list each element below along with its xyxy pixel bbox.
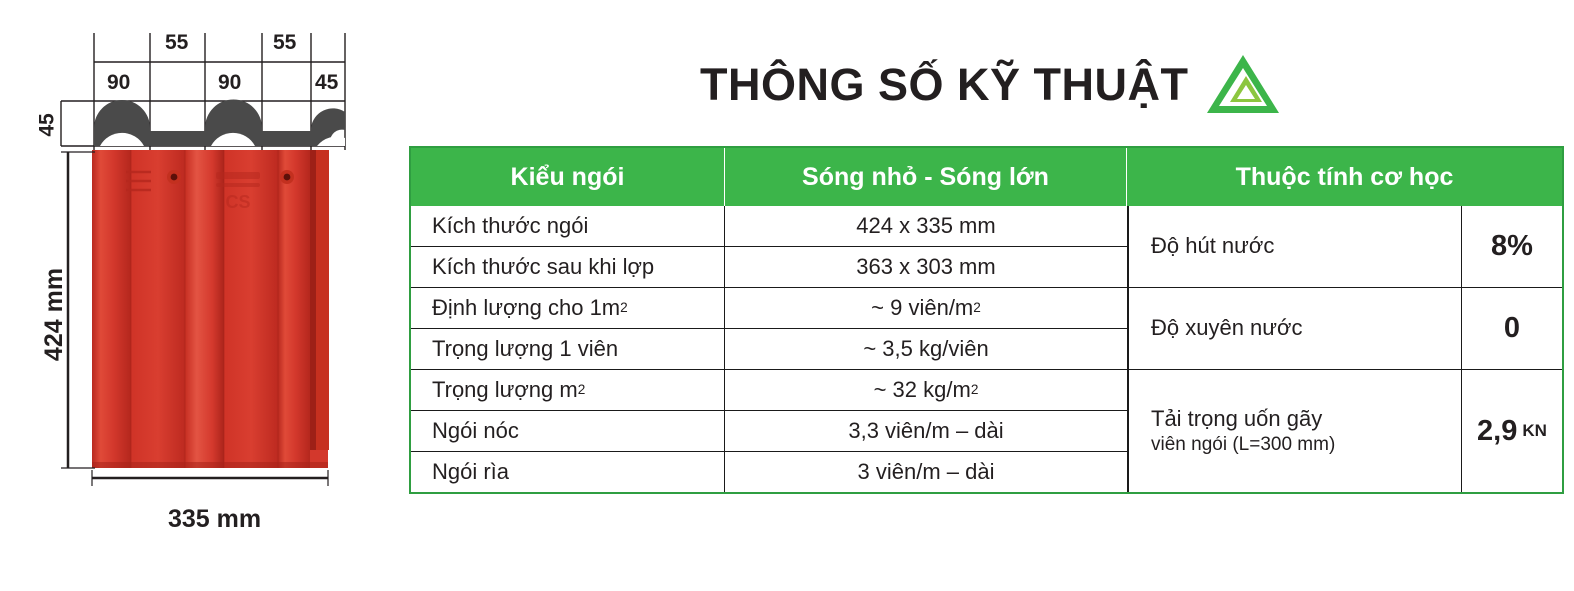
- spec-rows: Kích thước ngói 424 x 335 mm Kích thước …: [411, 206, 1127, 492]
- table-row: Kích thước ngói 424 x 335 mm: [411, 206, 1127, 247]
- mech-value-number: 0: [1504, 312, 1520, 345]
- svg-text:CS: CS: [225, 192, 250, 212]
- mech-value: 8%: [1462, 206, 1562, 287]
- column-header-wave: Sóng nhỏ - Sóng lớn: [725, 148, 1127, 206]
- dim-length-424: 424 mm: [40, 268, 69, 361]
- page-title: THÔNG SỐ KỸ THUẬT: [700, 62, 1189, 107]
- row-value: ~ 32 kg/m2: [725, 370, 1127, 410]
- row-value: 363 x 303 mm: [725, 247, 1127, 287]
- mech-value: 2,9 KN: [1462, 370, 1562, 492]
- table-row: Kích thước sau khi lợp 363 x 303 mm: [411, 247, 1127, 288]
- mechanical-rows: Độ hút nước 8% Độ xuyên nước 0: [1127, 206, 1562, 492]
- row-label: Kích thước sau khi lợp: [411, 247, 725, 287]
- mech-label-sub: viên ngói (L=300 mm): [1151, 433, 1461, 458]
- table-body: Kích thước ngói 424 x 335 mm Kích thước …: [411, 206, 1562, 492]
- row-value: 3 viên/m – dài: [725, 452, 1127, 492]
- table-row: Độ hút nước 8%: [1129, 206, 1562, 288]
- row-label: Ngói nóc: [411, 411, 725, 451]
- tile-photo: CS: [92, 150, 329, 468]
- spec-table: Kiểu ngói Sóng nhỏ - Sóng lớn Thuộc tính…: [409, 146, 1564, 494]
- dim-top-55-a: 55: [165, 31, 188, 55]
- mech-label-main: Độ hút nước: [1151, 232, 1461, 261]
- mech-label: Độ xuyên nước: [1129, 288, 1462, 369]
- row-value: ~ 3,5 kg/viên: [725, 329, 1127, 369]
- column-header-type: Kiểu ngói: [411, 148, 725, 206]
- table-row: Ngói nóc 3,3 viên/m – dài: [411, 411, 1127, 452]
- dim-width-335: 335 mm: [168, 505, 261, 534]
- dim-height-45: 45: [36, 113, 60, 136]
- mech-value-number: 8%: [1491, 230, 1533, 263]
- table-row: Độ xuyên nước 0: [1129, 288, 1562, 370]
- row-label: Trọng lượng m2: [411, 370, 725, 410]
- triangle-logo: [1205, 53, 1281, 115]
- row-label: Định lượng cho 1m2: [411, 288, 725, 328]
- row-label: Ngói rìa: [411, 452, 725, 492]
- table-header-row: Kiểu ngói Sóng nhỏ - Sóng lớn Thuộc tính…: [411, 148, 1562, 206]
- table-row: Trọng lượng m2 ~ 32 kg/m2: [411, 370, 1127, 411]
- mech-label: Tải trọng uốn gãy viên ngói (L=300 mm): [1129, 370, 1462, 492]
- row-value: 424 x 335 mm: [725, 206, 1127, 246]
- table-row: Trọng lượng 1 viên ~ 3,5 kg/viên: [411, 329, 1127, 370]
- mech-value-unit: KN: [1522, 421, 1547, 441]
- column-header-mechanical: Thuộc tính cơ học: [1127, 148, 1562, 206]
- dim-mid-90-a: 90: [107, 71, 130, 95]
- title-block: THÔNG SỐ KỸ THUẬT: [700, 52, 1280, 116]
- mech-value-number: 2,9: [1477, 415, 1517, 448]
- mech-label-main: Độ xuyên nước: [1151, 314, 1461, 343]
- table-row: Ngói rìa 3 viên/m – dài: [411, 452, 1127, 492]
- dim-top-55-b: 55: [273, 31, 296, 55]
- table-row: Tải trọng uốn gãy viên ngói (L=300 mm) 2…: [1129, 370, 1562, 492]
- mech-label: Độ hút nước: [1129, 206, 1462, 287]
- dim-mid-45: 45: [315, 71, 338, 95]
- dim-mid-90-b: 90: [218, 71, 241, 95]
- mech-label-main: Tải trọng uốn gãy: [1151, 405, 1461, 434]
- mech-value: 0: [1462, 288, 1562, 369]
- row-label: Trọng lượng 1 viên: [411, 329, 725, 369]
- spec-sheet: CS: [0, 0, 1574, 591]
- row-value: ~ 9 viên/m2: [725, 288, 1127, 328]
- table-row: Định lượng cho 1m2 ~ 9 viên/m2: [411, 288, 1127, 329]
- technical-drawing: CS: [0, 0, 400, 591]
- row-label: Kích thước ngói: [411, 206, 725, 246]
- row-value: 3,3 viên/m – dài: [725, 411, 1127, 451]
